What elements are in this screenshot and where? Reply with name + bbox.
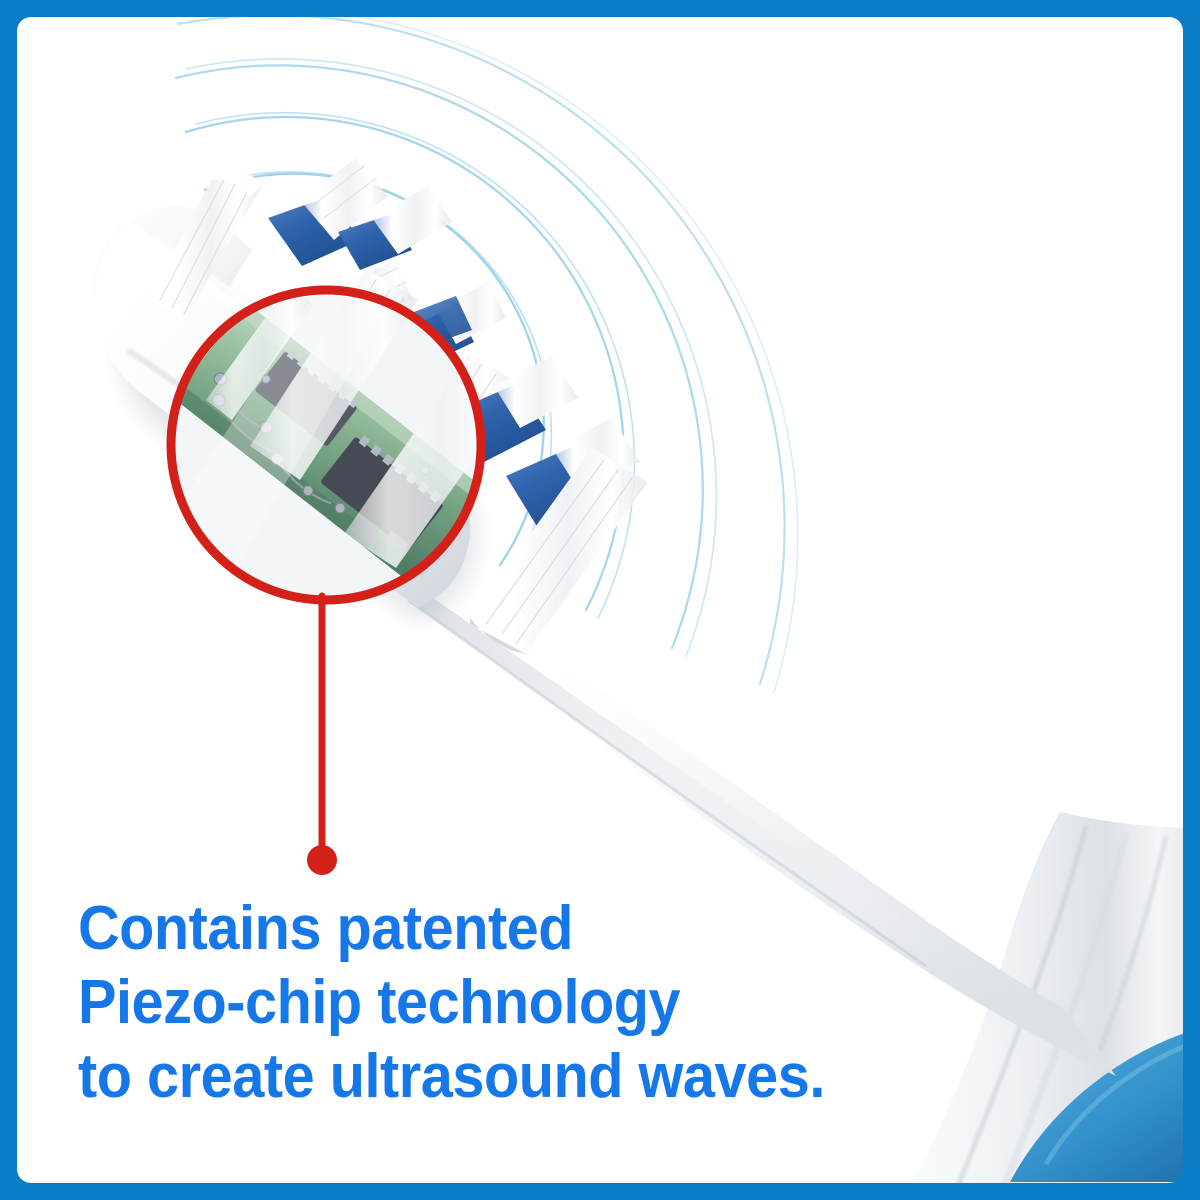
- caption-line-3: to create ultrasound waves.: [78, 1040, 989, 1114]
- callout-end-dot: [307, 845, 337, 875]
- caption-line-2: Piezo-chip technology: [78, 966, 989, 1040]
- caption-line-1: Contains patented: [78, 892, 989, 966]
- product-feature-panel: Contains patented Piezo-chip technology …: [0, 0, 1200, 1200]
- caption-block: Contains patented Piezo-chip technology …: [78, 892, 1058, 1114]
